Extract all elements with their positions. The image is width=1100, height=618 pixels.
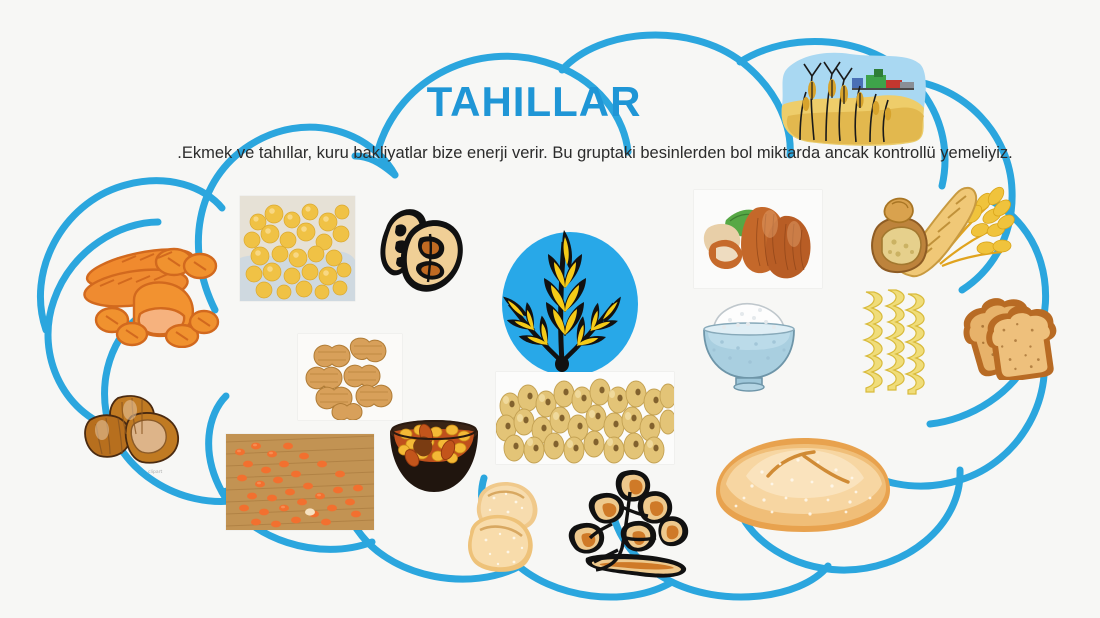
item-roasted-chickpeas [496, 372, 674, 464]
item-bread-assortment [74, 222, 220, 348]
item-bread-baguette-wheat [868, 168, 1016, 288]
poster-canvas: clipart [0, 0, 1100, 618]
item-wheat-sheaf-logo [470, 212, 660, 390]
page-title: TAHILLAR [0, 78, 1100, 126]
item-wheat-branch [568, 462, 698, 584]
item-fusilli-pasta [858, 288, 928, 396]
svg-text:clipart: clipart [148, 469, 162, 475]
item-chickpeas-photo [240, 196, 355, 301]
item-toast-slices [958, 288, 1070, 380]
item-almonds-photo [694, 190, 822, 288]
poster-description: .Ekmek ve tahıllar, kuru bakliyatlar biz… [150, 142, 1040, 165]
page-title-text: TAHILLAR [427, 78, 642, 126]
item-hazelnuts-clipart: clipart [84, 388, 194, 476]
item-red-lentils-photo [226, 434, 374, 530]
item-walnut-clipart [372, 198, 466, 302]
item-big-bread-loaf [706, 432, 898, 540]
item-bread-rolls [460, 474, 560, 578]
item-rice-bowl [690, 298, 808, 396]
